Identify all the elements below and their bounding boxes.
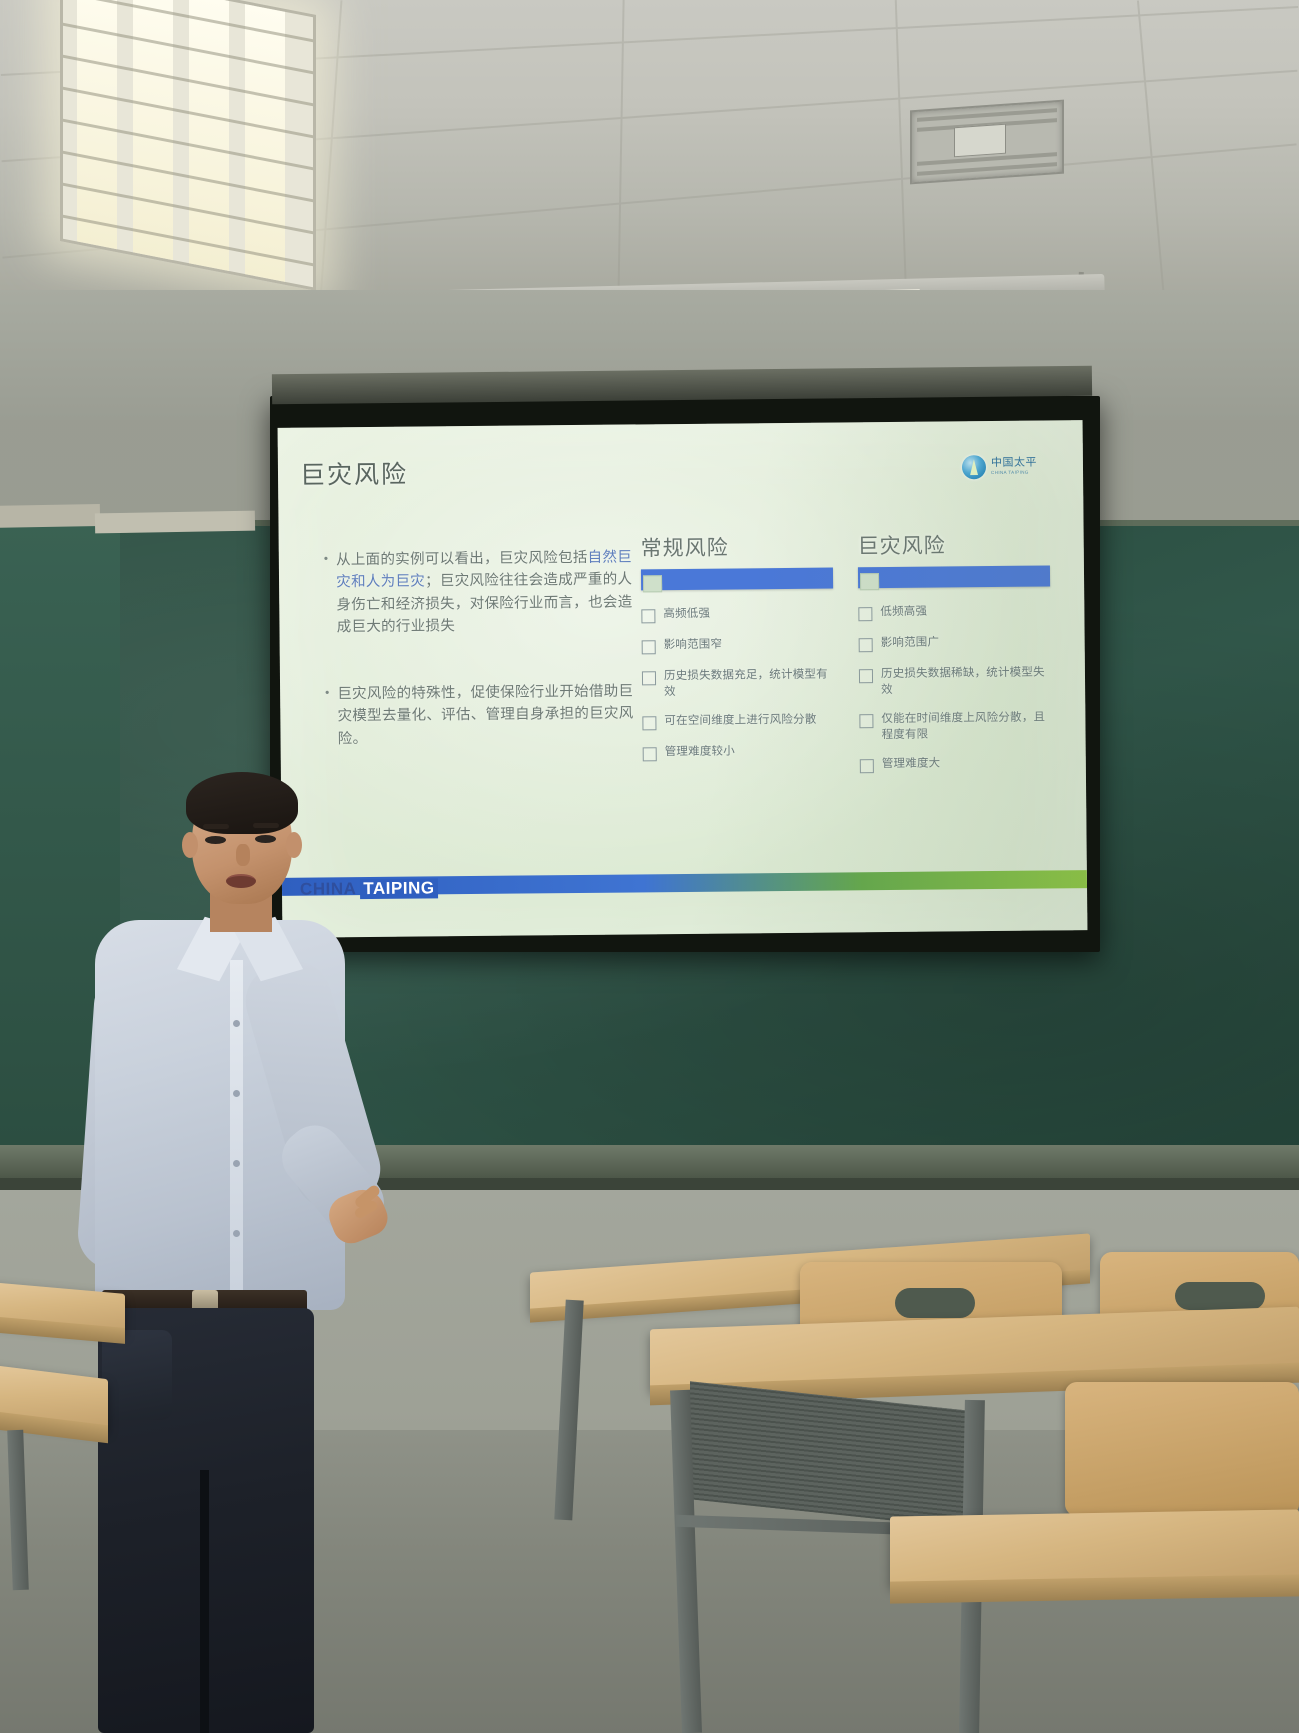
logo-chinese-text: 中国太平: [991, 458, 1037, 469]
checkbox-icon[interactable]: [859, 638, 873, 652]
trouser-leg-split: [200, 1470, 209, 1733]
list-item: 影响范围窄: [642, 636, 834, 655]
list-item: 高频低强: [641, 605, 833, 624]
slide-title: 巨灾风险: [300, 455, 408, 492]
ear-left: [182, 832, 198, 858]
presenter: [40, 770, 390, 1733]
list-item: • 从上面的实例可以看出，巨灾风险包括自然巨灾和人为巨灾；巨灾风险往往会造成严重…: [324, 546, 635, 639]
bullet-1-text: 从上面的实例可以看出，巨灾风险包括自然巨灾和人为巨灾；巨灾风险往往会造成严重的人…: [336, 546, 635, 639]
chair-back-front-right: [1065, 1382, 1299, 1516]
list-item: 历史损失数据稀缺，统计模型失效: [859, 664, 1051, 697]
chair-handle-hole: [895, 1288, 975, 1318]
eye-left: [205, 836, 226, 844]
nose: [236, 844, 250, 866]
chalkboard-frame-top: [95, 511, 255, 534]
column-regular-risk: 常规风险 高频低强 影响范围窄 历史损失数据充足，统计模型有效 可在空间维度上进…: [641, 531, 835, 790]
ceiling-air-vent: [910, 100, 1064, 185]
mouth: [226, 874, 256, 888]
list-item: 仅能在时间维度上风险分散，且程度有限: [859, 709, 1051, 742]
list-item: • 巨灾风险的特殊性，促使保险行业开始借助巨灾模型去量化、评估、管理自身承担的巨…: [325, 680, 636, 750]
checkbox-icon[interactable]: [642, 671, 656, 685]
eyebrow-right: [253, 823, 279, 828]
column-header-regular-risk: 常规风险: [641, 531, 833, 563]
column-accent-bar-regular: [641, 568, 833, 591]
checkbox-icon[interactable]: [859, 714, 873, 728]
checkbox-icon[interactable]: [641, 609, 655, 623]
chalkboard-frame-top-left: [0, 504, 100, 528]
bullet-marker: •: [324, 549, 329, 639]
classroom-photo: 巨灾风险 中国太平 CHINA TAIPING • 从上面的实例可以看出，巨灾风…: [0, 0, 1299, 1733]
column-accent-bar-catastrophe: [858, 565, 1050, 588]
checkbox-icon[interactable]: [858, 607, 872, 621]
ceiling-light-fixture: [60, 0, 316, 291]
list-item: 历史损失数据充足，统计模型有效: [642, 667, 834, 700]
column-catastrophe-risk: 巨灾风险 低频高强 影响范围广 历史损失数据稀缺，统计模型失效 仅能在时间维度上…: [858, 528, 1052, 787]
checkbox-icon[interactable]: [642, 716, 656, 730]
checkbox-icon[interactable]: [859, 669, 873, 683]
checkbox-icon[interactable]: [860, 759, 874, 773]
shirt-placket: [230, 960, 243, 1305]
list-item: 管理难度大: [860, 755, 1052, 774]
trouser-pocket-hand: [102, 1330, 172, 1420]
list-item: 影响范围广: [859, 633, 1051, 652]
list-item: 可在空间维度上进行风险分散: [642, 712, 834, 731]
checkbox-icon[interactable]: [642, 640, 656, 654]
china-taiping-globe-icon: [962, 455, 986, 479]
presentation-slide: 巨灾风险 中国太平 CHINA TAIPING • 从上面的实例可以看出，巨灾风…: [278, 420, 1088, 938]
chair-handle-hole-right: [1175, 1282, 1265, 1310]
bullet-marker: •: [325, 683, 330, 750]
logo-english-text: CHINA TAIPING: [991, 471, 1037, 476]
list-item: 低频高强: [858, 602, 1050, 621]
risk-comparison-columns: 常规风险 高频低强 影响范围窄 历史损失数据充足，统计模型有效 可在空间维度上进…: [641, 528, 1058, 789]
bullet-2-text: 巨灾风险的特殊性，促使保险行业开始借助巨灾模型去量化、评估、管理自身承担的巨灾风…: [337, 680, 635, 750]
eye-right: [255, 835, 276, 843]
ceiling: [0, 0, 1299, 300]
column-header-catastrophe-risk: 巨灾风险: [858, 528, 1050, 560]
slide-bullet-list: • 从上面的实例可以看出，巨灾风险包括自然巨灾和人为巨灾；巨灾风险往往会造成严重…: [324, 546, 636, 786]
ear-right: [286, 832, 302, 858]
china-taiping-logo: 中国太平 CHINA TAIPING: [962, 455, 1037, 480]
list-item: 管理难度较小: [643, 743, 835, 762]
checkbox-icon[interactable]: [643, 747, 657, 761]
eyebrow-left: [203, 824, 229, 829]
